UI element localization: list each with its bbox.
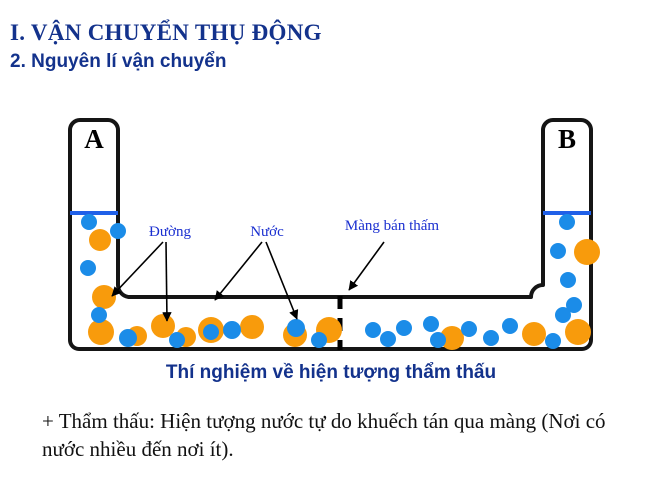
tube-a-letter: A: [84, 124, 104, 154]
water-particle: [430, 332, 446, 348]
definition-paragraph: + Thẩm thấu: Hiện tượng nước tự do khuếc…: [42, 408, 642, 463]
page-subtitle: 2. Nguyên lí vận chuyển: [10, 51, 226, 73]
water-particle: [287, 319, 305, 337]
water-particle: [169, 332, 185, 348]
label-mang-ban-tham: Màng bán thấm: [345, 218, 439, 234]
sugar-particle: [88, 319, 114, 345]
water-particle: [423, 316, 439, 332]
page-title: I. VẬN CHUYỂN THỤ ĐỘNG: [10, 20, 322, 46]
sugar-particle: [92, 285, 116, 309]
water-particle: [365, 322, 381, 338]
water-particle: [566, 297, 582, 313]
label-duong: Đường: [149, 224, 191, 240]
tube-b-letter: B: [558, 124, 576, 154]
sugar-particle: [240, 315, 264, 339]
water-particle: [91, 307, 107, 323]
sugar-particle: [522, 322, 546, 346]
water-particle: [203, 324, 219, 340]
callout-arrow-mang: [349, 242, 384, 290]
sugar-particle: [565, 319, 591, 345]
osmosis-u-tube-diagram: A B: [0, 100, 662, 370]
water-particle: [396, 320, 412, 336]
water-particle: [502, 318, 518, 334]
water-particle: [380, 331, 396, 347]
water-particle: [81, 214, 97, 230]
water-particle: [461, 321, 477, 337]
water-particle: [110, 223, 126, 239]
water-particle: [311, 332, 327, 348]
water-particle: [550, 243, 566, 259]
water-particle: [560, 272, 576, 288]
water-particle: [119, 329, 137, 347]
water-particle: [80, 260, 96, 276]
water-particle: [223, 321, 241, 339]
water-particle: [483, 330, 499, 346]
water-particle: [559, 214, 575, 230]
sugar-particle: [89, 229, 111, 251]
slide-canvas: I. VẬN CHUYỂN THỤ ĐỘNG 2. Nguyên lí vận …: [0, 0, 662, 496]
sugar-particle: [574, 239, 600, 265]
label-nuoc: Nước: [250, 224, 284, 240]
water-particle: [545, 333, 561, 349]
diagram-caption: Thí nghiệm về hiện tượng thẩm thấu: [0, 362, 662, 384]
